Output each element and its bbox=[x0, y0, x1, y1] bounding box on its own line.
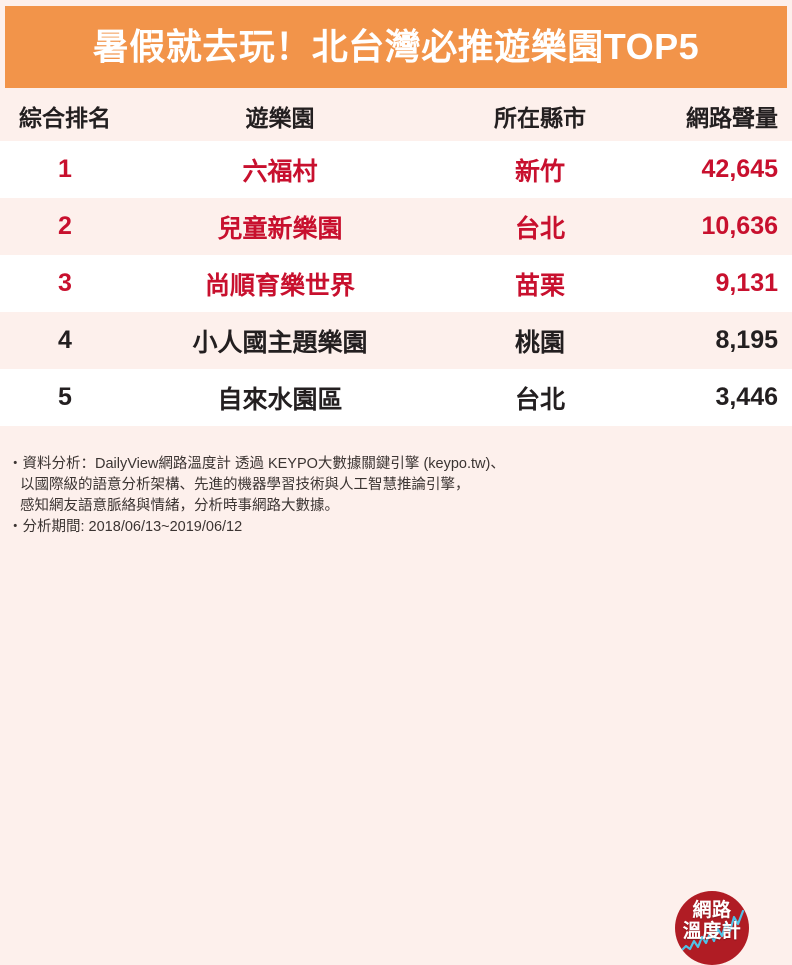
footnote-analysis-period: ・分析期間: 2018/06/13~2019/06/12 bbox=[8, 517, 648, 538]
page-title: 暑假就去玩！北台灣必推遊樂園TOP5 bbox=[93, 29, 699, 65]
footnotes: ・資料分析：DailyView網路溫度計 透過 KEYPO大數據關鍵引擎 (ke… bbox=[8, 454, 648, 538]
cell-rank: 1 bbox=[0, 155, 130, 184]
cell-park: 自來水園區 bbox=[130, 380, 430, 416]
dailyview-logo: 網路 溫度計 bbox=[675, 891, 749, 965]
logo-text-line1: 網路 bbox=[675, 900, 749, 921]
table-row: 1 六福村 新竹 42,645 bbox=[0, 141, 792, 198]
column-header-volume: 網路聲量 bbox=[650, 99, 792, 133]
column-header-park: 遊樂園 bbox=[130, 99, 430, 133]
table-header-row: 綜合排名 遊樂園 所在縣市 網路聲量 bbox=[0, 90, 792, 141]
footer: ・資料分析：DailyView網路溫度計 透過 KEYPO大數據關鍵引擎 (ke… bbox=[0, 432, 792, 556]
table-row: 4 小人國主題樂園 桃園 8,195 bbox=[0, 312, 792, 369]
cell-park: 兒童新樂園 bbox=[130, 209, 430, 245]
cell-city: 台北 bbox=[430, 380, 650, 416]
infographic-page: 暑假就去玩！北台灣必推遊樂園TOP5 綜合排名 遊樂園 所在縣市 網路聲量 1 … bbox=[0, 0, 792, 556]
cell-volume: 9,131 bbox=[650, 269, 792, 298]
cell-city: 苗栗 bbox=[430, 266, 650, 302]
title-banner: 暑假就去玩！北台灣必推遊樂園TOP5 bbox=[5, 6, 787, 88]
logo-text: 網路 溫度計 bbox=[675, 900, 749, 942]
logo-text-line2: 溫度計 bbox=[675, 921, 749, 942]
cell-rank: 5 bbox=[0, 383, 130, 412]
cell-volume: 10,636 bbox=[650, 212, 792, 241]
cell-rank: 2 bbox=[0, 212, 130, 241]
cell-rank: 4 bbox=[0, 326, 130, 355]
table-row: 3 尚順育樂世界 苗栗 9,131 bbox=[0, 255, 792, 312]
cell-city: 新竹 bbox=[430, 152, 650, 188]
footnote-line: 以國際級的語意分析架構、先進的機器學習技術與人工智慧推論引擎， bbox=[8, 475, 648, 496]
ranking-table: 綜合排名 遊樂園 所在縣市 網路聲量 1 六福村 新竹 42,645 2 兒童新… bbox=[0, 90, 792, 426]
cell-park: 尚順育樂世界 bbox=[130, 266, 430, 302]
table-row: 2 兒童新樂園 台北 10,636 bbox=[0, 198, 792, 255]
table-row: 5 自來水園區 台北 3,446 bbox=[0, 369, 792, 426]
cell-volume: 8,195 bbox=[650, 326, 792, 355]
cell-city: 桃園 bbox=[430, 323, 650, 359]
footnote-line: 感知網友語意脈絡與情緒，分析時事網路大數據。 bbox=[8, 496, 648, 517]
footnote-line: ・資料分析：DailyView網路溫度計 透過 KEYPO大數據關鍵引擎 (ke… bbox=[8, 454, 648, 475]
cell-volume: 42,645 bbox=[650, 155, 792, 184]
cell-volume: 3,446 bbox=[650, 383, 792, 412]
column-header-city: 所在縣市 bbox=[430, 99, 650, 133]
cell-city: 台北 bbox=[430, 209, 650, 245]
cell-park: 六福村 bbox=[130, 152, 430, 188]
column-header-rank: 綜合排名 bbox=[0, 99, 130, 133]
cell-park: 小人國主題樂園 bbox=[130, 323, 430, 359]
cell-rank: 3 bbox=[0, 269, 130, 298]
